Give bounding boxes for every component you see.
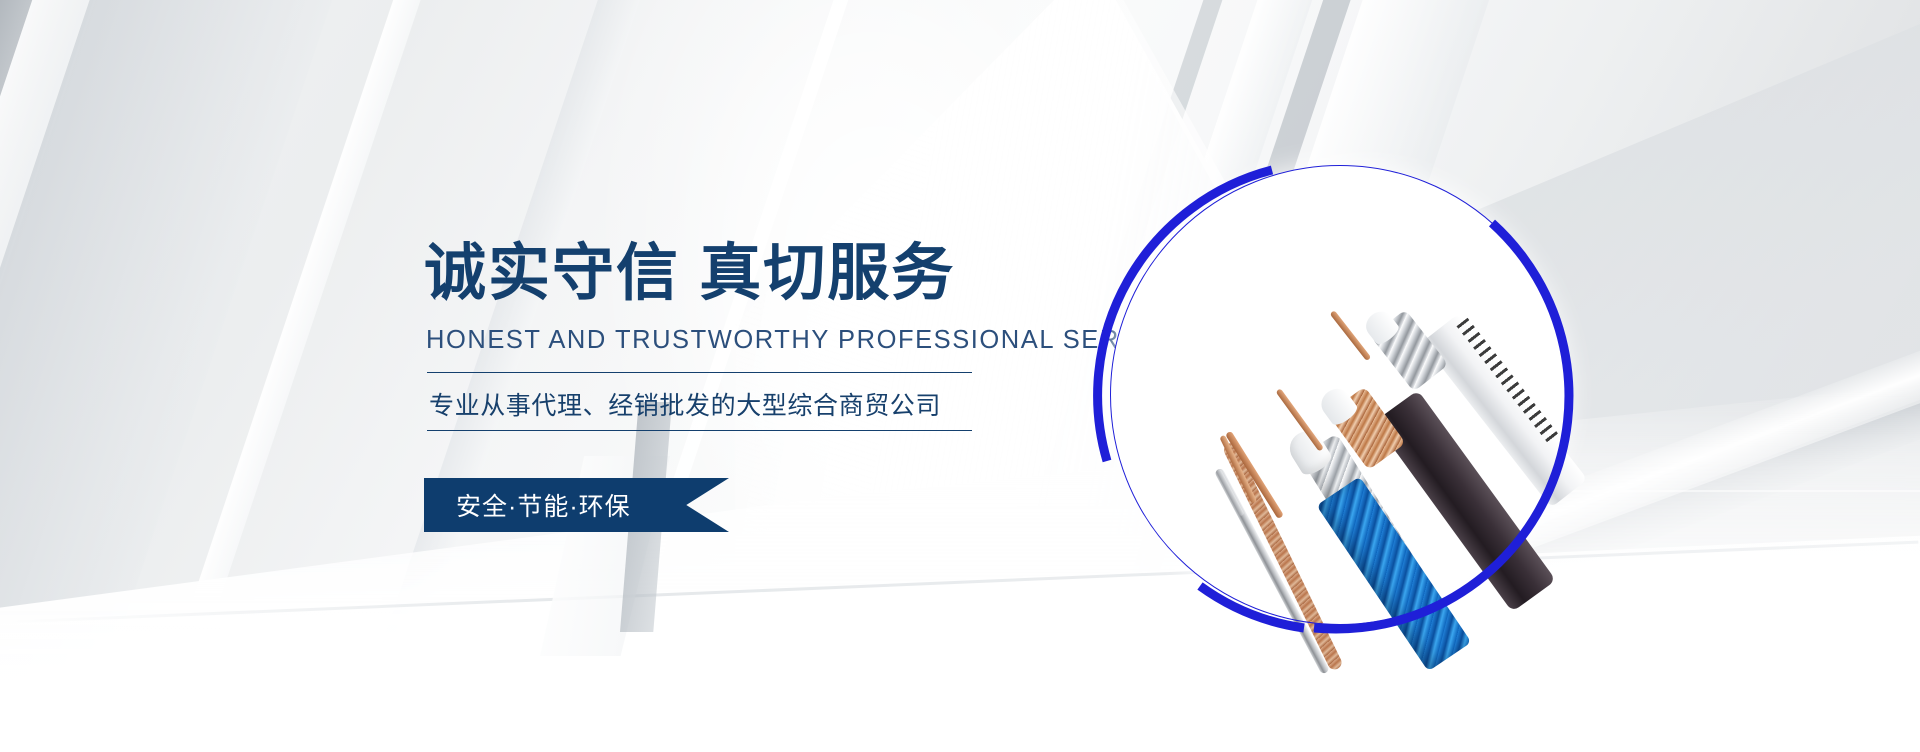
divider-bottom	[427, 430, 972, 431]
feature-ribbon-label: 安全·节能·环保	[456, 478, 631, 532]
product-medallion	[1110, 165, 1570, 625]
medallion-accent-arcs	[1076, 131, 1604, 659]
accent-arc-right	[1314, 223, 1569, 629]
hero-banner: 诚实守信 真切服务 HONEST AND TRUSTWORTHY PROFESS…	[0, 0, 1920, 752]
accent-arc-upper-left	[1098, 170, 1272, 461]
page-title: 诚实守信 真切服务	[424, 243, 955, 305]
accent-arc-bottom-left	[1200, 586, 1304, 628]
banner-content: 诚实守信 真切服务 HONEST AND TRUSTWORTHY PROFESS…	[424, 0, 1124, 752]
divider-top	[427, 372, 972, 373]
subtitle-chinese: 专业从事代理、经销批发的大型综合商贸公司	[429, 386, 941, 422]
